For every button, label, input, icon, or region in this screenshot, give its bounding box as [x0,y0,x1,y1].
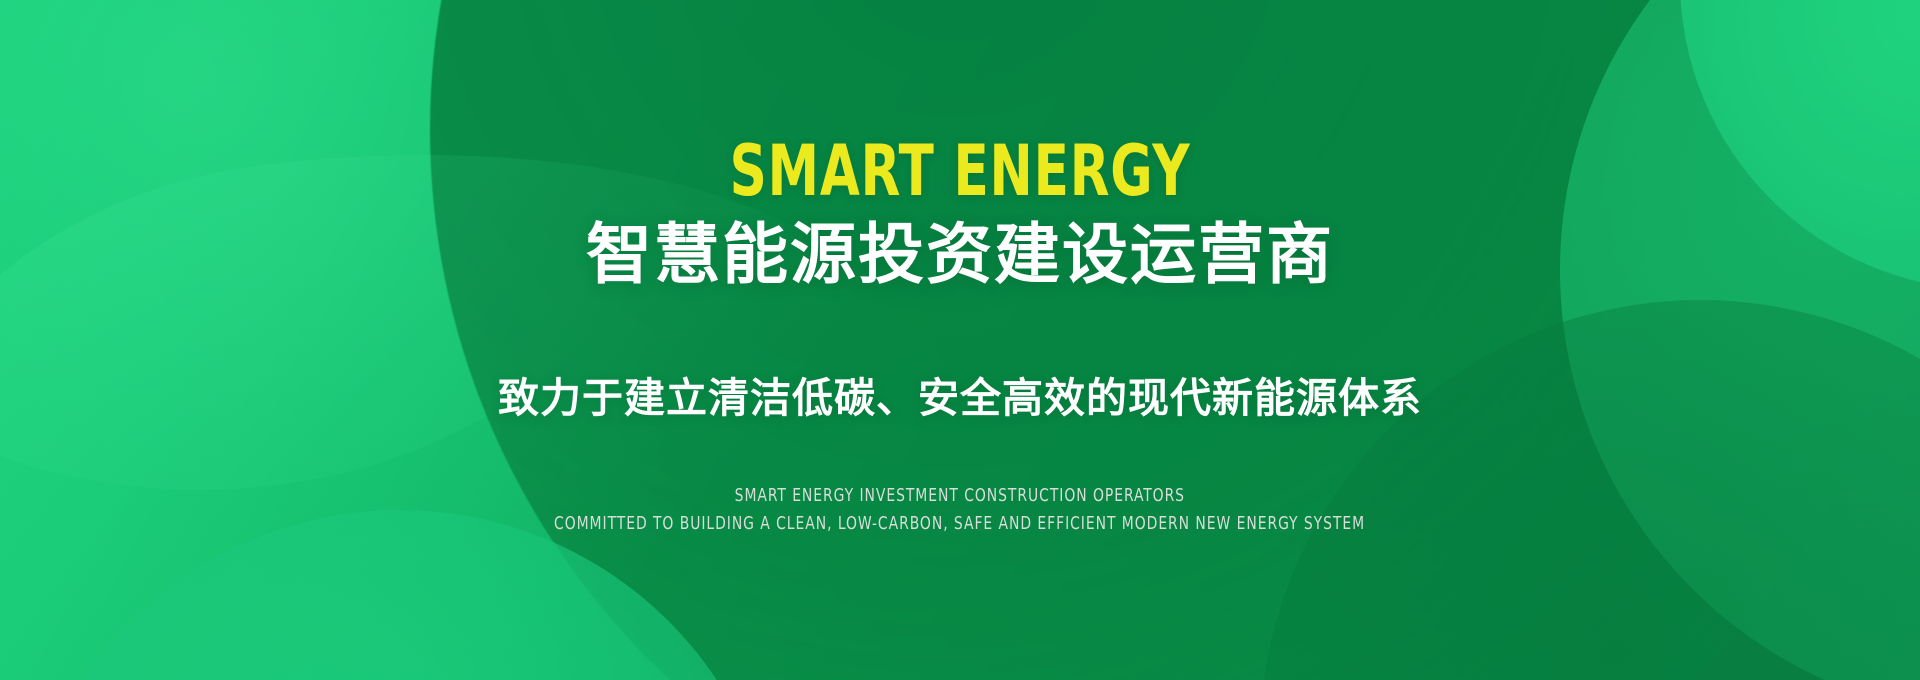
banner-subtitle-english-line-1: SMART ENERGY INVESTMENT CONSTRUCTION OPE… [735,485,1185,508]
banner-content: SMART ENERGY 智慧能源投资建设运营商 致力于建立清洁低碳、安全高效的… [0,0,1920,680]
banner-title-english: SMART ENERGY [730,136,1191,206]
banner-title-chinese: 智慧能源投资建设运营商 [586,220,1334,289]
hero-banner: SMART ENERGY 智慧能源投资建设运营商 致力于建立清洁低碳、安全高效的… [0,0,1920,680]
banner-subtitle-english-line-2: COMMITTED TO BUILDING A CLEAN, LOW-CARBO… [554,513,1365,536]
banner-subtitle-english-group: SMART ENERGY INVESTMENT CONSTRUCTION OPE… [488,485,1431,536]
banner-subtitle-chinese: 致力于建立清洁低碳、安全高效的现代新能源体系 [498,374,1422,423]
